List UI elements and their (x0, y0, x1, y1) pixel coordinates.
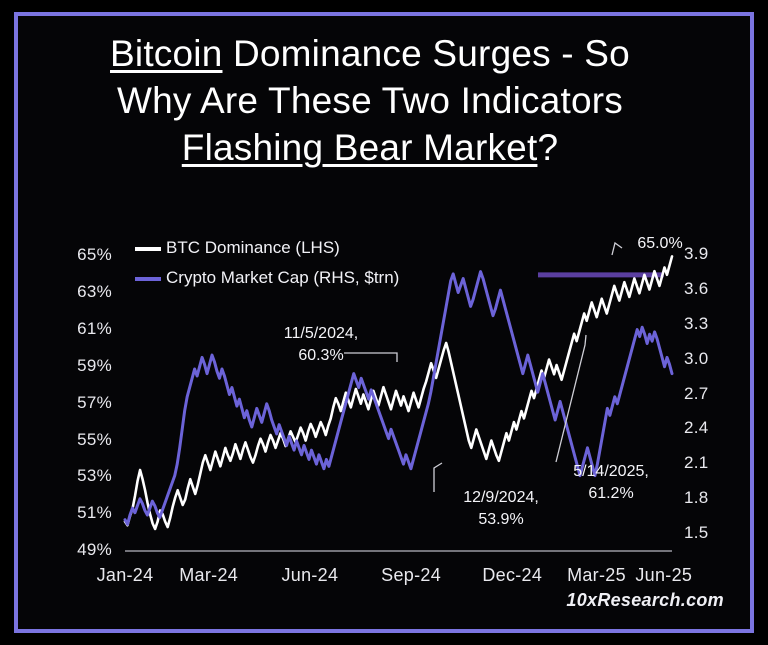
y-axis-left-tick-51: 51% (56, 503, 112, 523)
y-axis-left-tick-59: 59% (56, 356, 112, 376)
y-axis-right-tick-2-1: 2.1 (684, 453, 734, 473)
watermark: 10xResearch.com (566, 590, 724, 611)
y-axis-left-tick-53: 53% (56, 466, 112, 486)
x-axis-tick-jan-24: Jan-24 (82, 565, 168, 586)
legend-item-crypto-market-cap[interactable]: Crypto Market Cap (RHS, $trn) (135, 268, 399, 288)
y-axis-right-tick-3: 3.0 (684, 349, 734, 369)
y-axis-left-tick-49: 49% (56, 540, 112, 560)
anno-latest: 65.0% (625, 233, 695, 255)
anno-nov-2024-line2: 60.3% (261, 345, 381, 367)
legend-swatch-crypto-market-cap (135, 277, 161, 281)
legend-item-btc-dominance[interactable]: BTC Dominance (LHS) (135, 238, 340, 258)
x-axis-tick-jun-25: Jun-25 (621, 565, 707, 586)
y-axis-left-tick-63: 63% (56, 282, 112, 302)
y-axis-right-tick-1-8: 1.8 (684, 488, 734, 508)
x-axis-tick-mar-24: Mar-24 (166, 565, 252, 586)
legend-label: BTC Dominance (LHS) (166, 238, 340, 257)
y-axis-left-tick-55: 55% (56, 430, 112, 450)
y-axis-right-tick-2-4: 2.4 (684, 418, 734, 438)
y-axis-left-tick-57: 57% (56, 393, 112, 413)
y-axis-left-tick-61: 61% (56, 319, 112, 339)
legend-label: Crypto Market Cap (RHS, $trn) (166, 268, 399, 287)
anno-dec-2024-line1: 12/9/2024, (441, 487, 561, 509)
leader-line-latest (612, 243, 622, 255)
y-axis-right-tick-1-5: 1.5 (684, 523, 734, 543)
anno-latest-line1: 65.0% (625, 233, 695, 255)
anno-may-2025: 5/14/2025,61.2% (551, 461, 671, 505)
x-axis-tick-dec-24: Dec-24 (469, 565, 555, 586)
x-axis-tick-jun-24: Jun-24 (267, 565, 353, 586)
anno-may-2025-line1: 5/14/2025, (551, 461, 671, 483)
y-axis-right-tick-3-6: 3.6 (684, 279, 734, 299)
chart-page: Bitcoin Dominance Surges - So Why Are Th… (0, 0, 768, 645)
legend-swatch-btc-dominance (135, 247, 161, 251)
y-axis-right-tick-3-3: 3.3 (684, 314, 734, 334)
anno-dec-2024: 12/9/2024,53.9% (441, 487, 561, 531)
anno-nov-2024: 11/5/2024,60.3% (261, 323, 381, 367)
y-axis-left-tick-65: 65% (56, 245, 112, 265)
y-axis-right-tick-2-7: 2.7 (684, 384, 734, 404)
anno-dec-2024-line2: 53.9% (441, 509, 561, 531)
chart-plot-area (14, 12, 754, 633)
anno-may-2025-line2: 61.2% (551, 483, 671, 505)
anno-nov-2024-line1: 11/5/2024, (261, 323, 381, 345)
x-axis-tick-sep-24: Sep-24 (368, 565, 454, 586)
